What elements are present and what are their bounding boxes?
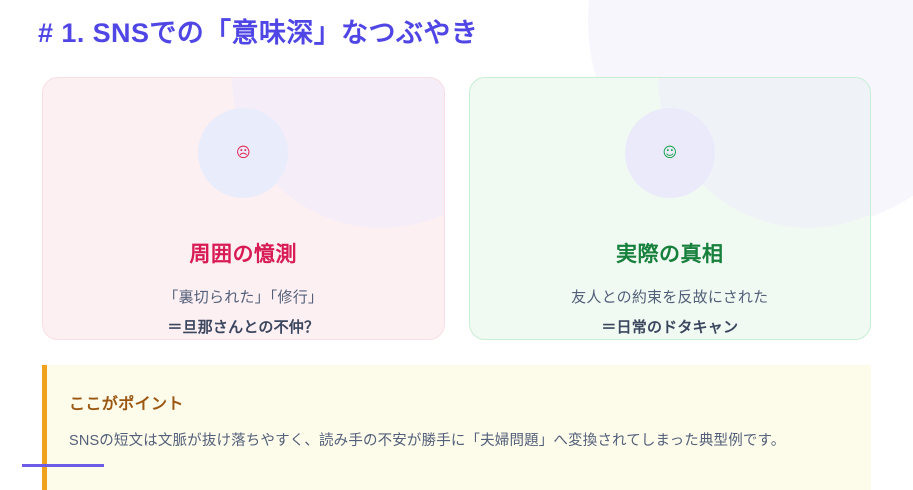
callout-body: SNSの短文は文脈が抜け落ちやすく、読み手の不安が勝手に「夫婦問題」へ変換されて… — [69, 428, 845, 454]
card-rumor: ☹ 周囲の憶測 「裏切られた」「修行」 ＝旦那さんとの不仲？ — [42, 77, 445, 340]
worried-face-emoji: ☹ — [236, 146, 251, 160]
emoji-bubble-truth: ☺ — [625, 108, 715, 198]
card-rumor-title: 周囲の憶測 — [190, 238, 298, 268]
page-title: #1. SNSでの「意味深」なつぶやき — [38, 11, 478, 50]
card-truth-line-1: 友人との約束を反故にされた — [571, 286, 768, 307]
callout-title: ここがポイント — [69, 390, 845, 414]
smiling-face-emoji: ☺ — [662, 146, 677, 160]
slide-root: #1. SNSでの「意味深」なつぶやき ☹ 周囲の憶測 「裏切られた」「修行」 … — [0, 0, 913, 490]
hash-marker: # — [38, 18, 53, 48]
card-truth: ☺ 実際の真相 友人との約束を反故にされた ＝日常のドタキャン — [469, 77, 872, 340]
card-rumor-line-1: 「裏切られた」「修行」 — [163, 286, 323, 307]
card-rumor-line-2: ＝旦那さんとの不仲？ — [167, 316, 319, 337]
page-title-text: 1. SNSでの「意味深」なつぶやき — [61, 18, 478, 48]
comparison-cards-row: ☹ 周囲の憶測 「裏切られた」「修行」 ＝旦那さんとの不仲？ ☺ 実際の真相 友… — [42, 77, 871, 340]
card-truth-line-2: ＝日常のドタキャン — [601, 316, 738, 337]
emoji-bubble-rumor: ☹ — [198, 108, 288, 198]
callout-box: ここがポイント SNSの短文は文脈が抜け落ちやすく、読み手の不安が勝手に「夫婦問… — [42, 365, 871, 490]
card-truth-title: 実際の真相 — [616, 238, 724, 268]
accent-divider-rule — [22, 464, 104, 467]
